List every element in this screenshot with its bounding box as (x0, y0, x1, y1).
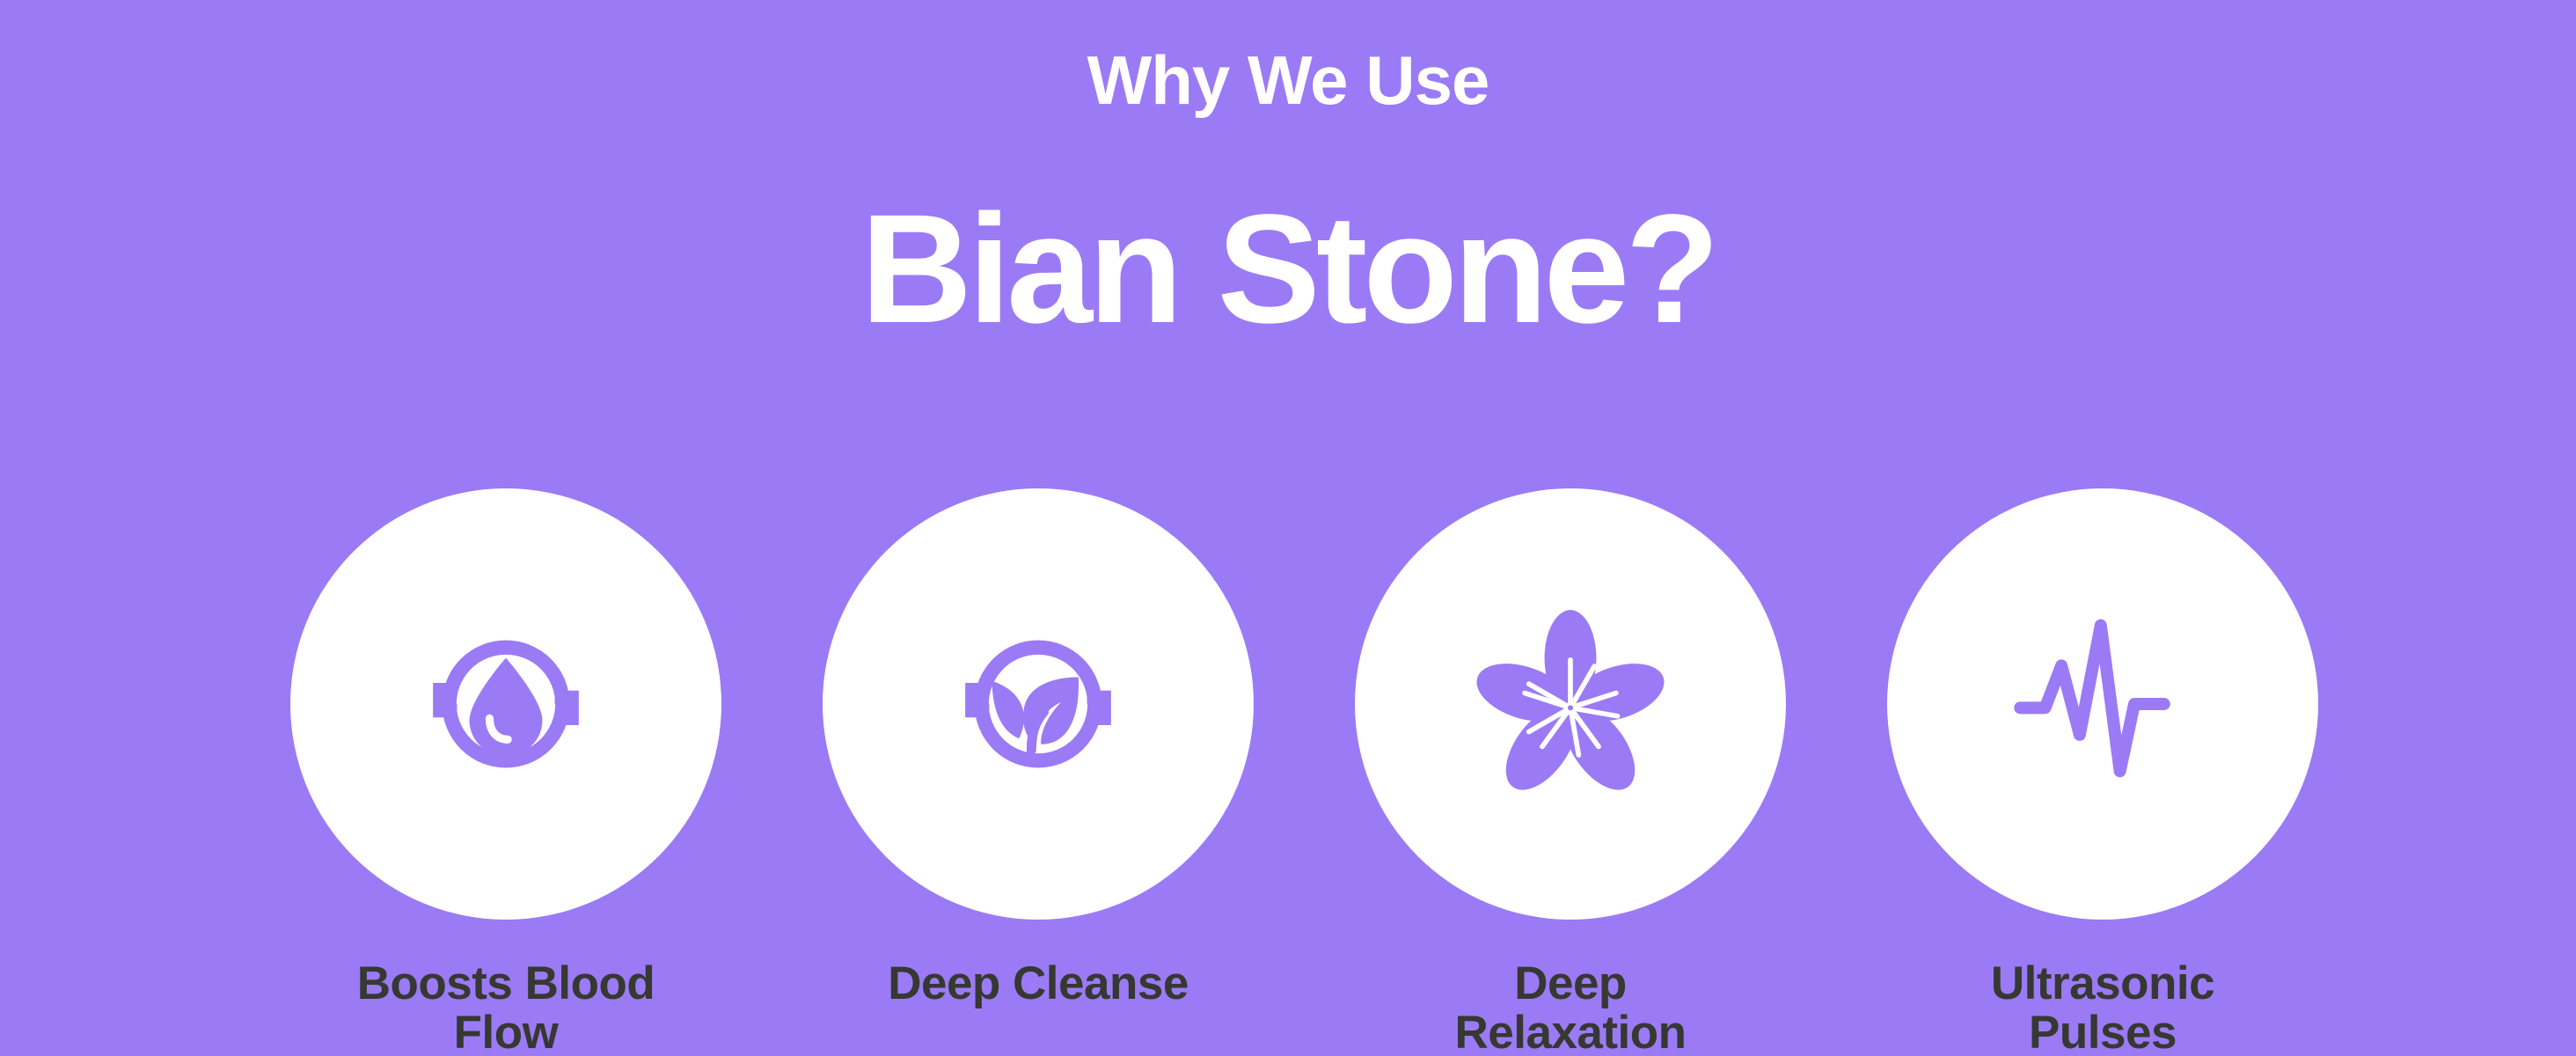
feature-item-deep-relaxation[interactable]: Deep Relaxation (1306, 488, 1834, 1056)
feature-row: Boosts Blood Flow (0, 488, 2576, 1056)
flower-icon (1475, 608, 1666, 800)
feature-icon-circle (823, 488, 1254, 920)
feature-icon-circle (1887, 488, 2318, 920)
feature-item-ultrasonic-pulses[interactable]: Ultrasonic Pulses (1839, 488, 2367, 1056)
water-drop-refresh-icon (410, 608, 602, 800)
leaf-refresh-icon (942, 608, 1134, 800)
feature-icon-circle (290, 488, 721, 920)
why-we-use-banner: Why We Use Bian Stone? (0, 0, 2576, 1056)
feature-label: Deep Relaxation (1443, 959, 1698, 1056)
feature-icon-circle (1355, 488, 1786, 920)
feature-item-deep-cleanse[interactable]: Deep Cleanse (774, 488, 1302, 1008)
feature-label: Deep Cleanse (849, 959, 1227, 1008)
eyebrow-heading: Why We Use (0, 46, 2576, 114)
pulse-wave-icon (2007, 608, 2199, 800)
feature-label: Ultrasonic Pulses (1914, 959, 2292, 1056)
feature-label: Boosts Blood Flow (317, 959, 695, 1056)
page-title: Bian Stone? (0, 192, 2576, 347)
feature-item-boosts-blood-flow[interactable]: Boosts Blood Flow (242, 488, 770, 1056)
